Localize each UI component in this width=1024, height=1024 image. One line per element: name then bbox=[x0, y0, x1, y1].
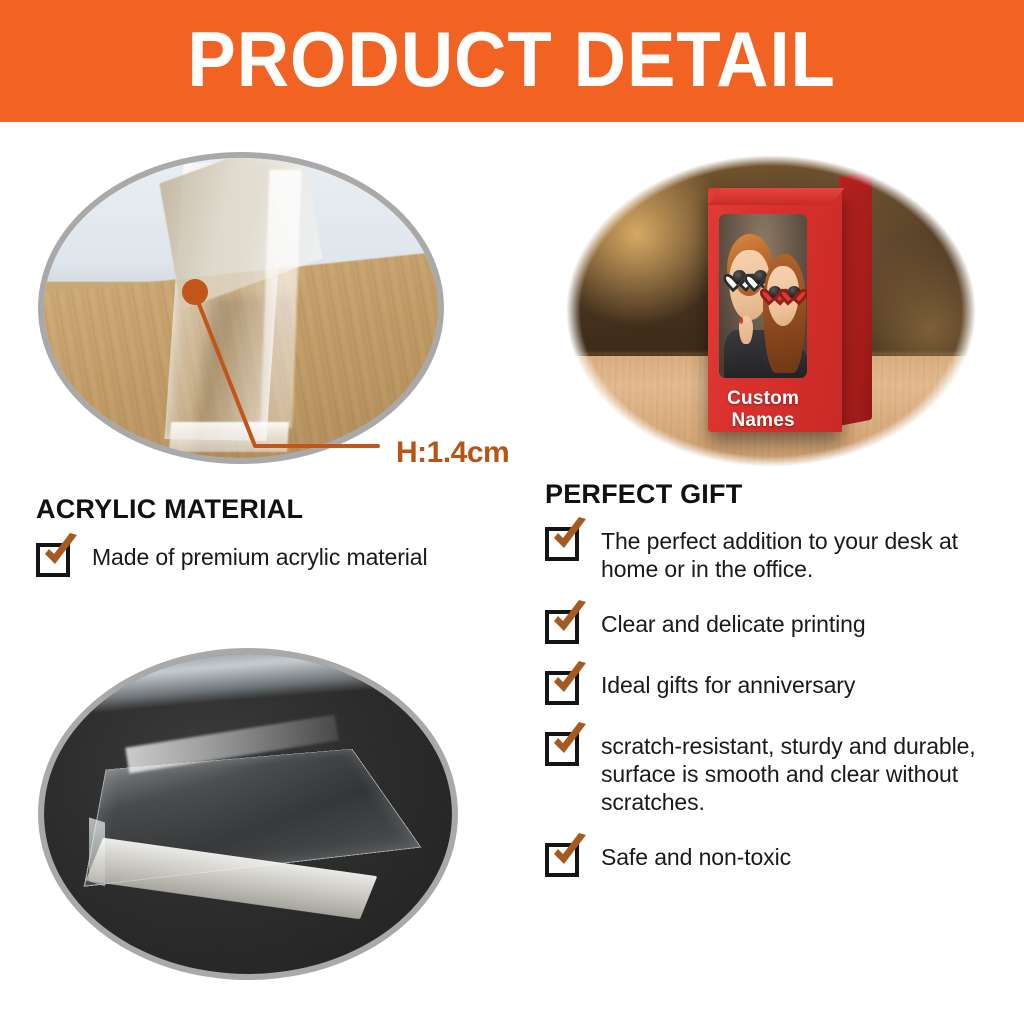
red-gift-box-photo: Custom Names bbox=[562, 152, 980, 470]
checkmark-icon bbox=[545, 606, 583, 644]
check-glyph bbox=[547, 722, 591, 766]
acrylic-block-on-slate-photo bbox=[38, 648, 458, 980]
feature-list-acrylic-material: Made of premium acrylic material bbox=[36, 538, 516, 599]
check-glyph bbox=[547, 517, 591, 561]
gift-box-front-panel: Custom Names bbox=[708, 188, 842, 432]
check-glyph bbox=[547, 661, 591, 705]
list-item-label: scratch-resistant, sturdy and durable, s… bbox=[601, 727, 1015, 816]
list-item: Safe and non-toxic bbox=[545, 838, 1015, 877]
list-item: Made of premium acrylic material bbox=[36, 538, 516, 577]
gift-box-side-panel bbox=[839, 171, 872, 427]
list-item-label: Clear and delicate printing bbox=[601, 605, 866, 638]
check-glyph bbox=[547, 600, 591, 644]
list-item-label: Ideal gifts for anniversary bbox=[601, 666, 855, 699]
checkmark-icon bbox=[36, 539, 74, 577]
page-title: PRODUCT DETAIL bbox=[188, 20, 836, 98]
list-item: The perfect addition to your desk at hom… bbox=[545, 522, 1015, 583]
list-item-label: Made of premium acrylic material bbox=[92, 538, 428, 571]
list-item-label: Safe and non-toxic bbox=[601, 838, 791, 871]
section-heading-perfect-gift: PERFECT GIFT bbox=[545, 479, 742, 510]
checkmark-icon bbox=[545, 839, 583, 877]
gift-box-top-face bbox=[708, 188, 844, 205]
checkmark-icon bbox=[545, 728, 583, 766]
dimension-label: H:1.4cm bbox=[396, 436, 509, 470]
feature-list-perfect-gift: The perfect addition to your desk at hom… bbox=[545, 522, 1015, 899]
slate-background bbox=[44, 654, 452, 974]
gift-box-label: Custom Names bbox=[708, 388, 818, 432]
list-item: Clear and delicate printing bbox=[545, 605, 1015, 644]
check-glyph bbox=[38, 533, 82, 577]
leader-line bbox=[195, 294, 378, 446]
list-item: scratch-resistant, sturdy and durable, s… bbox=[545, 727, 1015, 816]
gift-box-window bbox=[719, 214, 807, 378]
lens-core bbox=[788, 286, 800, 298]
red-nail bbox=[740, 317, 743, 323]
list-item: Ideal gifts for anniversary bbox=[545, 666, 1015, 705]
gift-box: Custom Names bbox=[708, 177, 871, 431]
checkmark-icon bbox=[545, 667, 583, 705]
heart-lens-right bbox=[785, 282, 802, 302]
check-glyph bbox=[547, 833, 591, 877]
list-item-label: The perfect addition to your desk at hom… bbox=[601, 522, 1015, 583]
cartoon-woman-figure bbox=[760, 254, 808, 378]
checkmark-icon bbox=[545, 523, 583, 561]
woman-hand-on-chin bbox=[739, 316, 753, 344]
section-heading-acrylic-material: ACRYLIC MATERIAL bbox=[36, 494, 303, 525]
header-banner: PRODUCT DETAIL bbox=[0, 0, 1024, 122]
woman-heart-sunglasses-red bbox=[764, 282, 805, 302]
